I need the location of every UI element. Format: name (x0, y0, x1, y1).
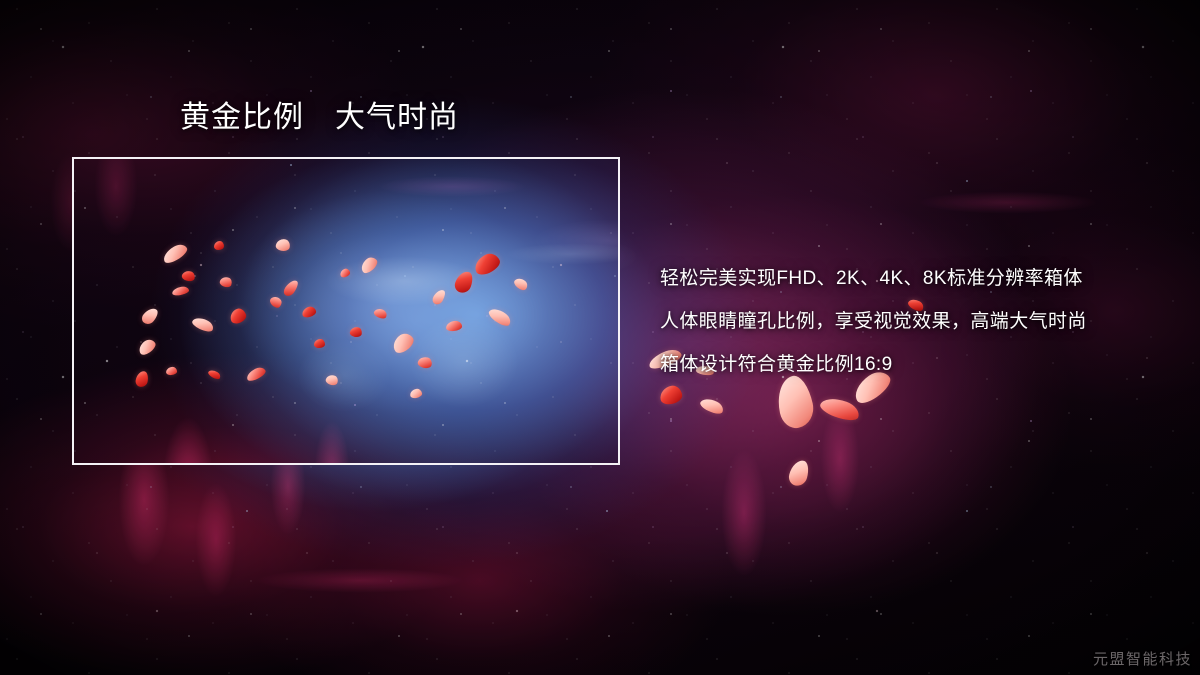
petal (214, 241, 224, 250)
watermark-label: 元盟智能科技 (1093, 648, 1192, 669)
body-copy-block: 轻松完美实现FHD、2K、4K、8K标准分辨率箱体 人体眼睛瞳孔比例，享受视觉效… (660, 257, 1180, 386)
showcase-image-frame (72, 157, 620, 465)
slide-canvas: 黄金比例 大气时尚 轻松完美实现FHD、2K、4K、8K标准分辨率箱体 人体眼睛… (0, 0, 1200, 675)
body-line-3: 箱体设计符合黄金比例16:9 (660, 343, 1180, 386)
showcase-image-content (74, 159, 618, 463)
body-line-1: 轻松完美实现FHD、2K、4K、8K标准分辨率箱体 (660, 257, 1180, 300)
petal (314, 339, 325, 348)
petal (659, 384, 684, 406)
body-line-2: 人体眼睛瞳孔比例，享受视觉效果，高端大气时尚 (660, 300, 1180, 343)
page-title: 黄金比例 大气时尚 (180, 101, 459, 135)
petal (699, 395, 726, 416)
petal (787, 458, 811, 488)
